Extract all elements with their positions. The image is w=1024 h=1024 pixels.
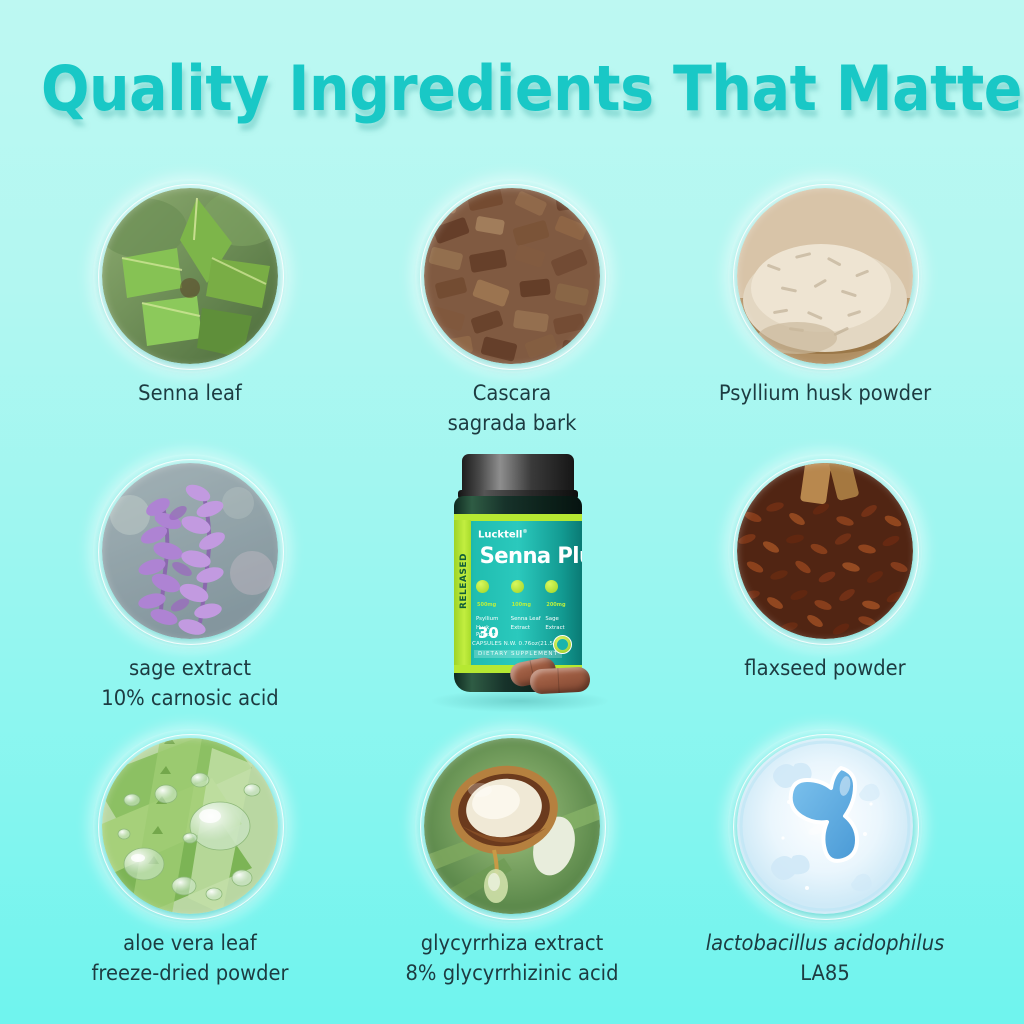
bottle-shadow xyxy=(432,690,608,712)
ingredient-card-senna-leaf: Senna leaf xyxy=(40,188,340,408)
badge-line-1: Senna Leaf xyxy=(511,616,542,623)
badge-line-1: Psyllium xyxy=(476,616,507,623)
ingredient-circle xyxy=(737,188,913,364)
circle-ring xyxy=(733,734,919,920)
poster-canvas: Quality Ingredients That Matter xyxy=(0,0,1024,1024)
product-bottle: RELEASED Lucktell® Senna Plus 500mg Psyl… xyxy=(418,452,618,722)
leaf-dot-icon xyxy=(511,580,524,593)
ingredient-caption: lactobacillus acidophilus LA85 xyxy=(686,928,965,988)
ingredient-circle xyxy=(737,463,913,639)
badge-sage: 200mg Sage Extract xyxy=(545,578,576,639)
ingredient-card-psyllium-husk-powder: Psyllium husk powder xyxy=(675,188,975,408)
supplement-badge: DIETARY SUPPLEMENT xyxy=(474,650,562,658)
badge-mg: 200mg xyxy=(546,602,565,608)
ingredient-circle xyxy=(737,738,913,914)
capsule-front xyxy=(529,666,590,694)
caption-line-1: Cascara xyxy=(373,378,652,408)
circle-ring xyxy=(733,184,919,370)
caption-line-2: sagrada bark xyxy=(373,408,652,438)
capsule-seam xyxy=(558,668,560,693)
ingredient-caption: glycyrrhiza extract 8% glycyrrhizinic ac… xyxy=(373,928,652,988)
ingredient-card-aloe-vera-leaf: aloe vera leaf freeze-dried powder xyxy=(40,738,340,988)
badge-mg: 500mg xyxy=(477,602,496,608)
badge-senna: 100mg Senna Leaf Extract xyxy=(511,578,542,639)
caption-line-1: sage extract xyxy=(51,653,330,683)
net-weight: CAPSULES N.W. 0.76oz(21.5g) xyxy=(472,641,559,647)
ingredient-circle xyxy=(424,188,600,364)
label-side-text: RELEASED xyxy=(459,552,469,610)
caption-line-1: glycyrrhiza extract xyxy=(373,928,652,958)
brand-name: Lucktell® xyxy=(478,529,528,540)
ingredient-card-sage-extract: sage extract 10% carnosic acid xyxy=(40,463,340,713)
product-name: Senna Plus xyxy=(480,544,582,569)
quality-seal-icon xyxy=(553,635,572,654)
label-side-strip: RELEASED xyxy=(454,520,471,666)
ingredient-caption: Cascara sagrada bark xyxy=(373,378,652,438)
ingredient-caption: sage extract 10% carnosic acid xyxy=(51,653,330,713)
ingredient-card-flaxseed-powder: flaxseed powder xyxy=(675,463,975,683)
ingredient-circle xyxy=(102,463,278,639)
caption-line-2: freeze-dried powder xyxy=(51,958,330,988)
bottle-cap xyxy=(462,454,574,494)
ingredient-card-cascara-sagrada-bark: Cascara sagrada bark xyxy=(362,188,662,438)
ingredient-circle xyxy=(102,188,278,364)
ingredient-caption: Senna leaf xyxy=(51,378,330,408)
caption-line-2: LA85 xyxy=(686,958,965,988)
badge-line-2: Extract xyxy=(545,625,576,632)
ingredient-circle xyxy=(102,738,278,914)
circle-ring xyxy=(733,459,919,645)
leaf-dot-icon xyxy=(476,580,489,593)
ingredient-card-glycyrrhiza-extract: glycyrrhiza extract 8% glycyrrhizinic ac… xyxy=(362,738,662,988)
circle-ring xyxy=(98,459,284,645)
badge-line-1: Sage xyxy=(545,616,576,623)
capsule-count: 30 xyxy=(478,624,499,642)
seal-inner xyxy=(557,639,568,650)
page-title: Quality Ingredients That Matter xyxy=(41,52,983,125)
circle-ring xyxy=(420,184,606,370)
circle-ring xyxy=(420,734,606,920)
badge-line-2: Extract xyxy=(511,625,542,632)
circle-ring xyxy=(98,734,284,920)
brand-text: Lucktell xyxy=(478,529,523,540)
brand-trademark: ® xyxy=(523,529,528,535)
ingredient-card-lactobacillus-acidophilus: lactobacillus acidophilus LA85 xyxy=(675,738,975,988)
leaf-dot-icon xyxy=(545,580,558,593)
ingredient-caption: flaxseed powder xyxy=(686,653,965,683)
caption-line-1: aloe vera leaf xyxy=(51,928,330,958)
caption-line-2: 10% carnosic acid xyxy=(51,683,330,713)
bottle-label: RELEASED Lucktell® Senna Plus 500mg Psyl… xyxy=(454,520,582,666)
ingredient-circle xyxy=(424,738,600,914)
ingredient-caption: aloe vera leaf freeze-dried powder xyxy=(51,928,330,988)
ingredient-caption: Psyllium husk powder xyxy=(686,378,965,408)
caption-line-2: 8% glycyrrhizinic acid xyxy=(373,958,652,988)
caption-line-1: Psyllium husk powder xyxy=(686,378,965,408)
caption-line-1: lactobacillus acidophilus xyxy=(686,928,965,958)
badge-mg: 100mg xyxy=(512,602,531,608)
caption-line-1: flaxseed powder xyxy=(686,653,965,683)
caption-line-1: Senna leaf xyxy=(51,378,330,408)
circle-ring xyxy=(98,184,284,370)
